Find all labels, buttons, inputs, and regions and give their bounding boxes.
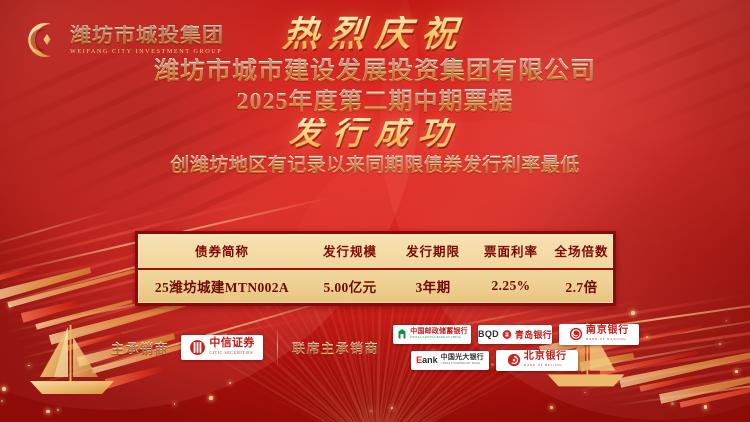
logo-label-en: CHINA EVERBRIGHT BANK	[441, 363, 484, 366]
table-cell-subscription-multiple: 2.7倍	[550, 276, 613, 296]
table-header-cell: 发行期限	[394, 241, 472, 260]
table-cell-tenor: 3年期	[394, 276, 472, 296]
logo-label-en: POSTAL SAVINGS BANK OF CHINA	[410, 337, 468, 340]
bqd-mark-icon	[502, 329, 512, 340]
logo-bank-of-nanjing: 南京银行 BANK OF NANJING	[559, 324, 639, 345]
table-header-cell: 债券简称	[138, 241, 306, 260]
joint-underwriters-group: 中国邮政储蓄银行 POSTAL SAVINGS BANK OF CHINA BQ…	[393, 324, 639, 371]
headline-line-3: 2025年度第二期中期票据	[0, 89, 750, 116]
underwriters-bar: 主承销商 中信证券 CITIC SECURITIES 联席主承销商	[0, 318, 750, 376]
logo-bank-of-beijing: 北京银行 BANK OF BEIJING	[496, 350, 578, 371]
crescent-moon-star-icon	[22, 20, 62, 60]
joint-underwriters-row-1: 中国邮政储蓄银行 POSTAL SAVINGS BANK OF CHINA BQ…	[393, 324, 639, 345]
table-header-cell: 票面利率	[472, 241, 550, 260]
logo-label-cn: 中国邮政储蓄银行	[410, 328, 468, 335]
joint-underwriters-row-2: Eank 中国光大银行 CHINA EVERBRIGHT BANK 北京银行	[393, 350, 639, 371]
table-header-cell: 全场倍数	[550, 241, 613, 260]
logo-label-cn: 青岛银行	[515, 328, 552, 341]
brand-name-cn: 潍坊市城投集团	[70, 25, 224, 46]
logo-label-en: BQD	[478, 329, 499, 339]
headline-line-5: 创潍坊地区有记录以来同期限债券发行利率最低	[0, 155, 750, 176]
bond-details-table: 债券简称 发行规模 发行期限 票面利率 全场倍数 25潍坊城建MTN002A 5…	[135, 231, 616, 306]
logo-label-cn: 中信证券	[209, 338, 254, 349]
psbc-mark-icon	[396, 328, 408, 340]
table-header-cell: 发行规模	[306, 241, 394, 260]
table-row: 25潍坊城建MTN002A 5.00亿元 3年期 2.25% 2.7倍	[138, 270, 613, 304]
brand-logo: 潍坊市城投集团 WEIFANG CITY INVESTMENT GROUP	[22, 20, 224, 60]
celebration-poster: 潍坊市城投集团 WEIFANG CITY INVESTMENT GROUP 热烈…	[0, 0, 750, 422]
citic-mark-icon	[189, 339, 206, 356]
lead-underwriter-group: 主承销商 中信证券 CITIC SECURITIES	[111, 335, 263, 360]
logo-psbc: 中国邮政储蓄银行 POSTAL SAVINGS BANK OF CHINA	[393, 325, 471, 344]
table-cell-issue-size: 5.00亿元	[306, 276, 394, 296]
logo-label-cn: 北京银行	[524, 352, 567, 362]
lead-underwriter-label: 主承销商	[111, 338, 169, 357]
joint-underwriter-label: 联席主承销商	[292, 338, 379, 357]
table-cell-coupon-rate: 2.25%	[472, 278, 550, 294]
divider	[277, 327, 278, 367]
logo-label-en: CITIC SECURITIES	[209, 351, 254, 355]
table-header-row: 债券简称 发行规模 发行期限 票面利率 全场倍数	[138, 234, 613, 270]
headline-line-2: 潍坊市城市建设发展投资集团有限公司	[0, 58, 750, 86]
logo-label-en: BANK OF NANJING	[586, 338, 629, 341]
nanjing-mark-icon	[569, 327, 583, 341]
logo-label-cn: 南京银行	[586, 326, 629, 336]
logo-label-en-short: ank	[422, 355, 438, 365]
headline-line-4: 发行成功	[0, 118, 750, 151]
logo-china-everbright-bank: Eank 中国光大银行 CHINA EVERBRIGHT BANK	[411, 351, 489, 370]
logo-label-en: BANK OF BEIJING	[524, 364, 567, 367]
beijing-mark-icon	[507, 353, 521, 367]
logo-label-cn: 中国光大银行	[441, 354, 484, 361]
brand-name-en: WEIFANG CITY INVESTMENT GROUP	[70, 49, 224, 55]
logo-bqd: BQD 青岛银行	[478, 325, 552, 344]
logo-citic-securities: 中信证券 CITIC SECURITIES	[181, 335, 263, 360]
table-cell-bond-name: 25潍坊城建MTN002A	[138, 276, 306, 296]
